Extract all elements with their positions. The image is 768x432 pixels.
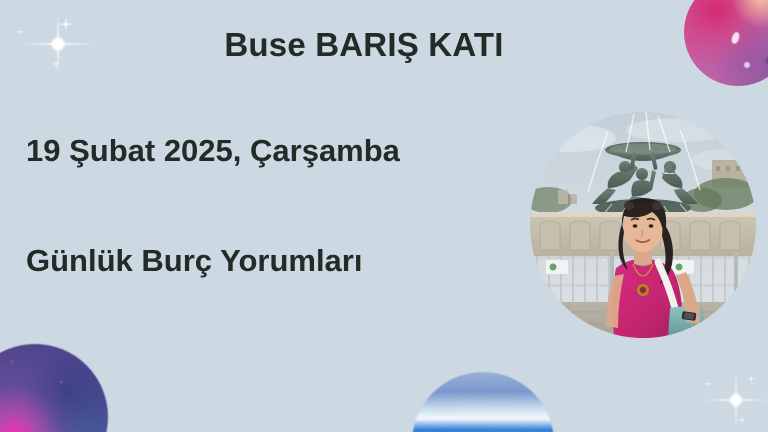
page-title: Buse BARIŞ KATI bbox=[0, 26, 768, 64]
planet-cloud-band bbox=[412, 415, 554, 420]
sparkle-core bbox=[730, 394, 742, 406]
poster-canvas: Buse BARIŞ KATI 19 Şubat 2025, Çarşamba … bbox=[0, 0, 768, 432]
blue-watercolor-planet bbox=[412, 372, 554, 432]
sparkle-star-icon bbox=[700, 368, 768, 432]
sparkle-mini-icon bbox=[744, 372, 758, 386]
purple-galaxy-planet bbox=[0, 344, 108, 432]
galaxy-star-grain bbox=[0, 344, 108, 432]
sparkle-mini-icon bbox=[736, 414, 747, 425]
sparkle-mini-icon bbox=[702, 378, 714, 390]
date-line: 19 Şubat 2025, Çarşamba bbox=[26, 133, 400, 169]
section-line: Günlük Burç Yorumları bbox=[26, 243, 362, 279]
profile-photo bbox=[530, 112, 756, 338]
